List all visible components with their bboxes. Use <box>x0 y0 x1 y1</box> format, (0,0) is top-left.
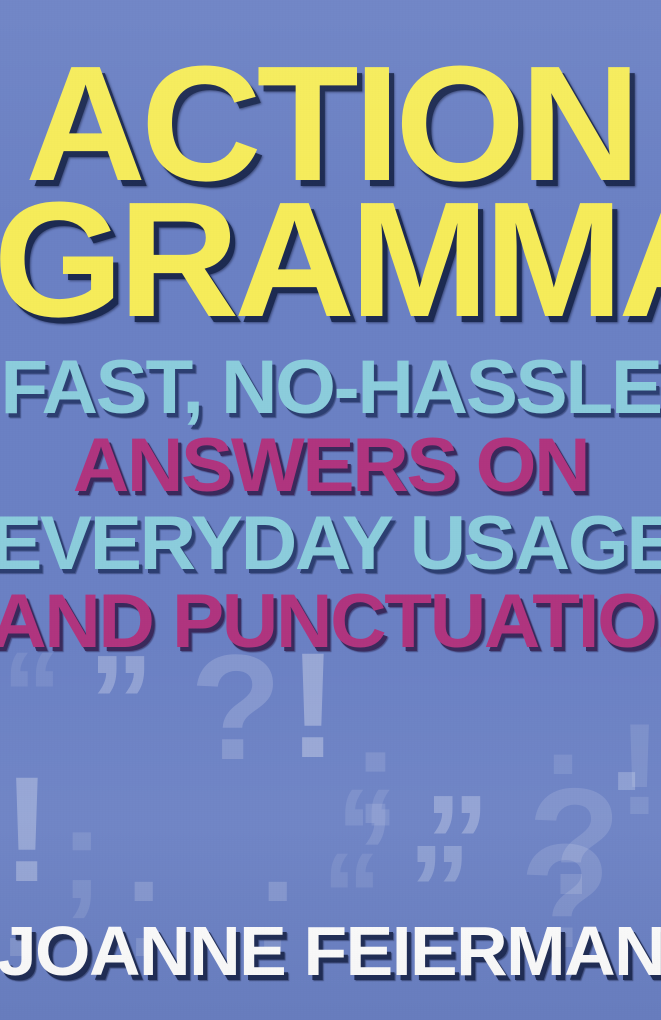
book-cover: “”?!;..“”?!;..“”?....! ACTION GRAMMAR FA… <box>0 0 661 1020</box>
title-line-2: GRAMMAR <box>0 178 661 342</box>
subtitle-line-3: EVERYDAY USAGE <box>0 506 661 582</box>
subtitle-line-1: FAST, NO-HASSLE <box>0 350 661 426</box>
cover-text-layer: ACTION GRAMMAR FAST, NO-HASSLE ANSWERS O… <box>0 0 661 1020</box>
author-name: JOANNE FEIERMAN <box>0 916 661 986</box>
subtitle-line-4: AND PUNCTUATION <box>0 584 661 660</box>
subtitle-line-2: ANSWERS ON <box>0 428 661 504</box>
